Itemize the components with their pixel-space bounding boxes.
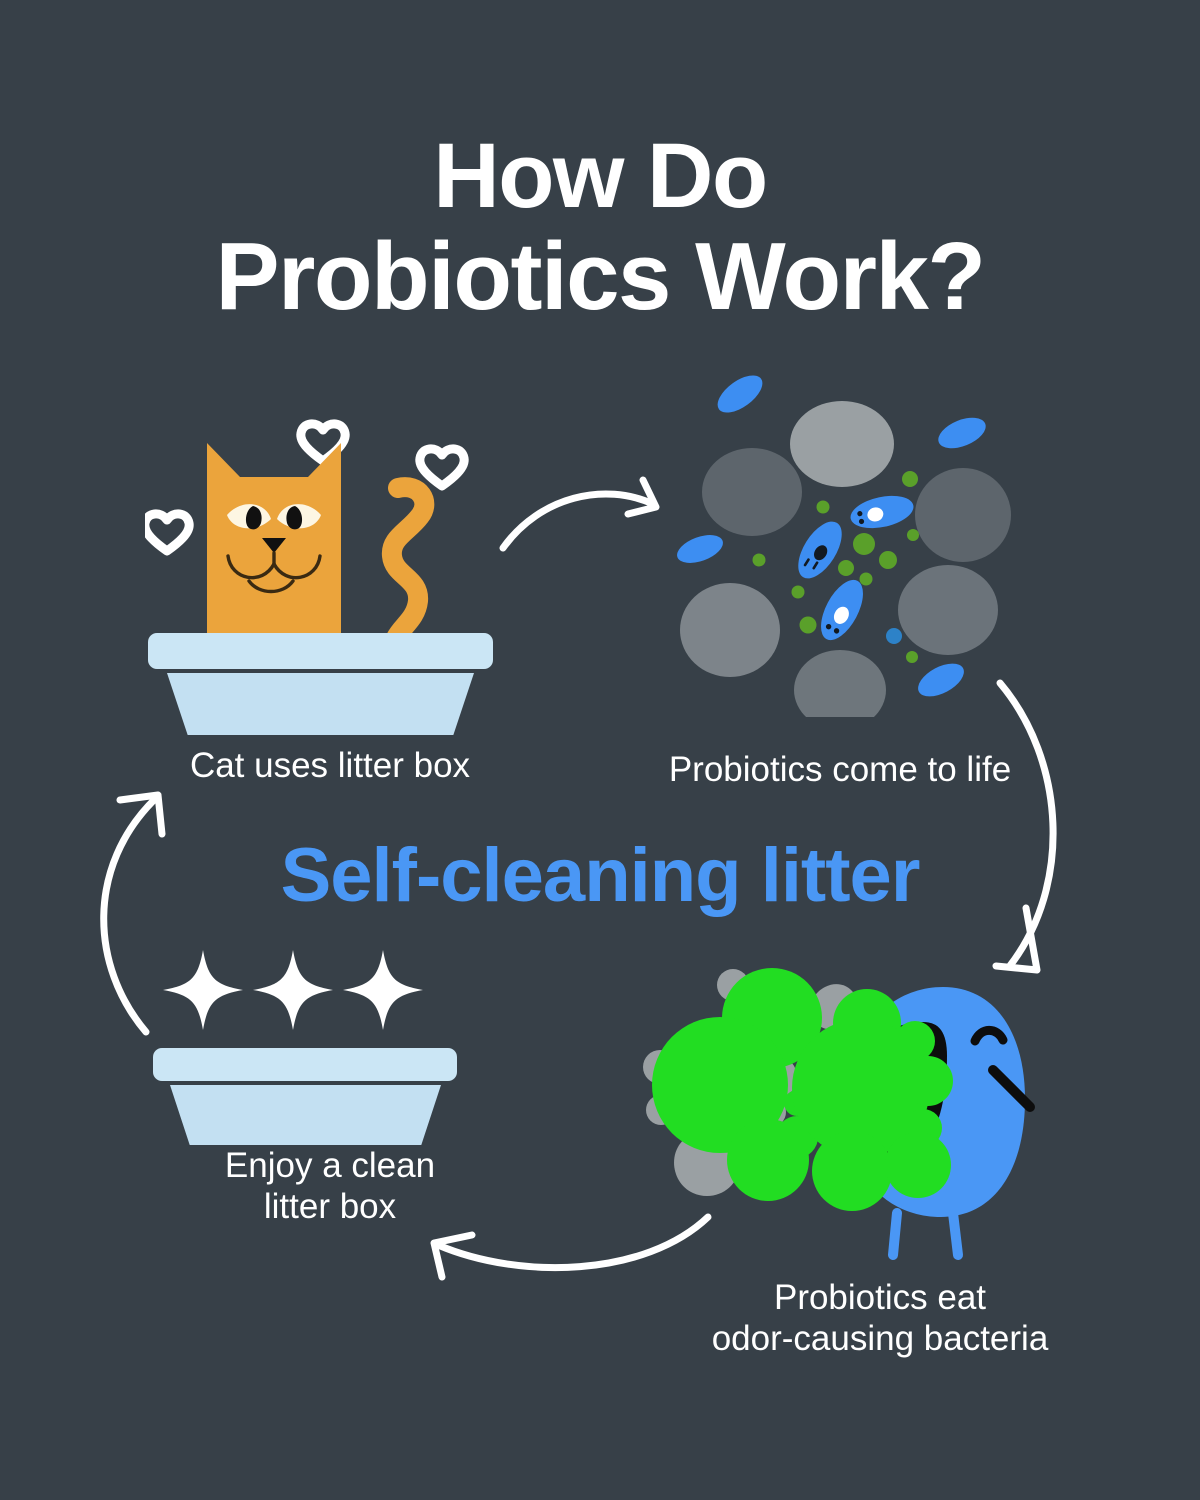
cat-tail (392, 487, 424, 638)
caption-probiotics-come-to-life: Probiotics come to life (600, 750, 1080, 791)
arrow-probiotics-to-eating (965, 665, 1085, 995)
title-line-2: Probiotics Work? (0, 226, 1200, 328)
probiotic-legs (893, 1213, 958, 1255)
litter-box (153, 1048, 457, 1145)
title-line-1: How Do (0, 128, 1200, 226)
caption-probiotics-eat-bacteria: Probiotics eat odor-causing bacteria (640, 1278, 1120, 1360)
probiotic-rod-with-face (789, 514, 850, 585)
infographic-poster: How Do Probiotics Work? (0, 0, 1200, 1500)
probiotic-dot (886, 628, 902, 644)
probiotic-eating-bacteria-icon (635, 955, 1055, 1265)
probiotic-rod-with-face (848, 491, 917, 534)
clean-litter-box-icon (140, 945, 500, 1145)
page-title: How Do Probiotics Work? (0, 128, 1200, 327)
arrow-cat-to-probiotics (495, 472, 685, 562)
cat-in-litter-box-icon (145, 405, 535, 735)
sparkle-icon (163, 950, 423, 1030)
caption-enjoy-clean-litter-box: Enjoy a clean litter box (130, 1146, 530, 1228)
litter-box (148, 633, 493, 735)
caption-cat-uses-litter-box: Cat uses litter box (120, 746, 540, 787)
